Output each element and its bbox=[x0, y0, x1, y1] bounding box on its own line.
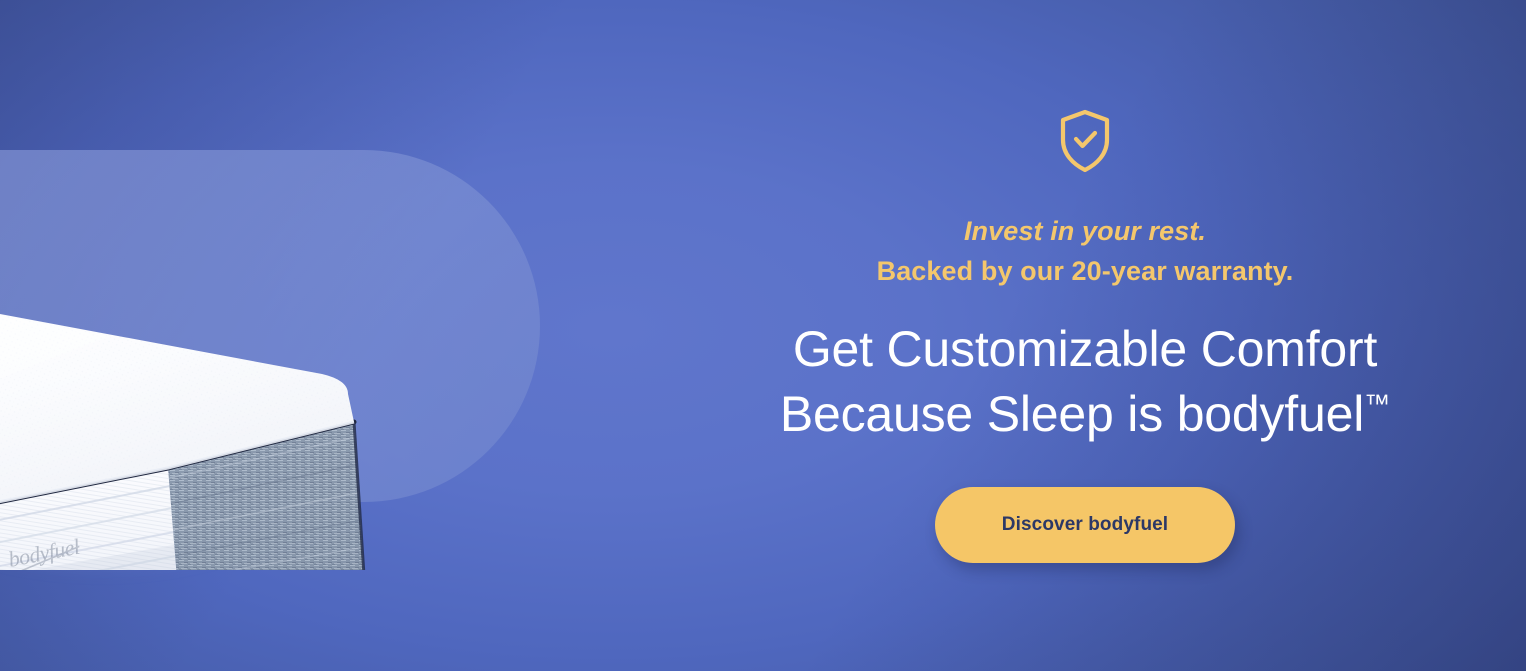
headline-line-2-text: Because Sleep is bodyfuel bbox=[780, 386, 1364, 442]
product-image-stage: bodyfuel bbox=[0, 150, 540, 505]
headline-line-1: Get Customizable Comfort bbox=[780, 317, 1390, 382]
shield-check-icon bbox=[1056, 108, 1114, 174]
eyebrow-line-1: Invest in your rest. bbox=[877, 212, 1294, 252]
hero-banner: bodyfuel Invest in your rest. bbox=[0, 0, 1526, 671]
mattress-product-image: bodyfuel bbox=[0, 150, 540, 570]
eyebrow-line-2: Backed by our 20-year warranty. bbox=[877, 252, 1294, 292]
trademark-symbol: ™ bbox=[1364, 388, 1390, 418]
page-title: Get Customizable Comfort Because Sleep i… bbox=[780, 317, 1390, 447]
discover-bodyfuel-button[interactable]: Discover bodyfuel bbox=[935, 487, 1235, 563]
eyebrow-text: Invest in your rest. Backed by our 20-ye… bbox=[877, 212, 1294, 291]
headline-line-2: Because Sleep is bodyfuel™ bbox=[780, 382, 1390, 447]
hero-content: Invest in your rest. Backed by our 20-ye… bbox=[742, 0, 1428, 671]
